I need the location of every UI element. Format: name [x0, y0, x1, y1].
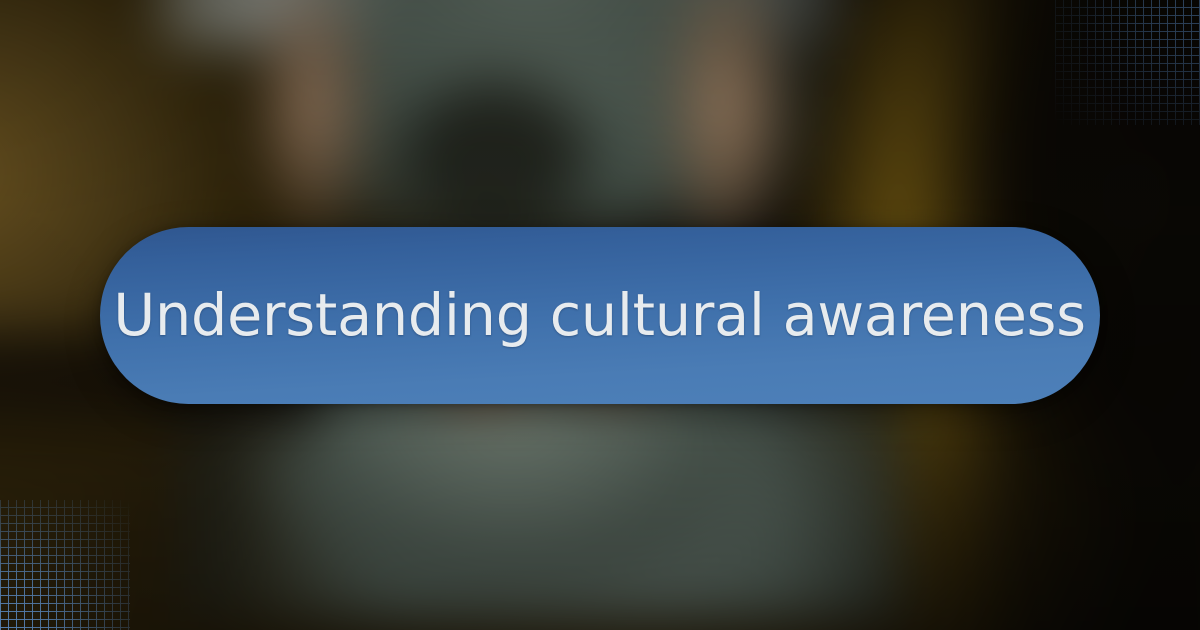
title-banner-pill: Understanding cultural awareness — [100, 227, 1100, 404]
banner-title-text: Understanding cultural awareness — [114, 284, 1086, 347]
halftone-grid-bottom-left — [0, 500, 130, 630]
banner-canvas: Understanding cultural awareness — [0, 0, 1200, 630]
halftone-grid-top-right — [1055, 0, 1200, 125]
